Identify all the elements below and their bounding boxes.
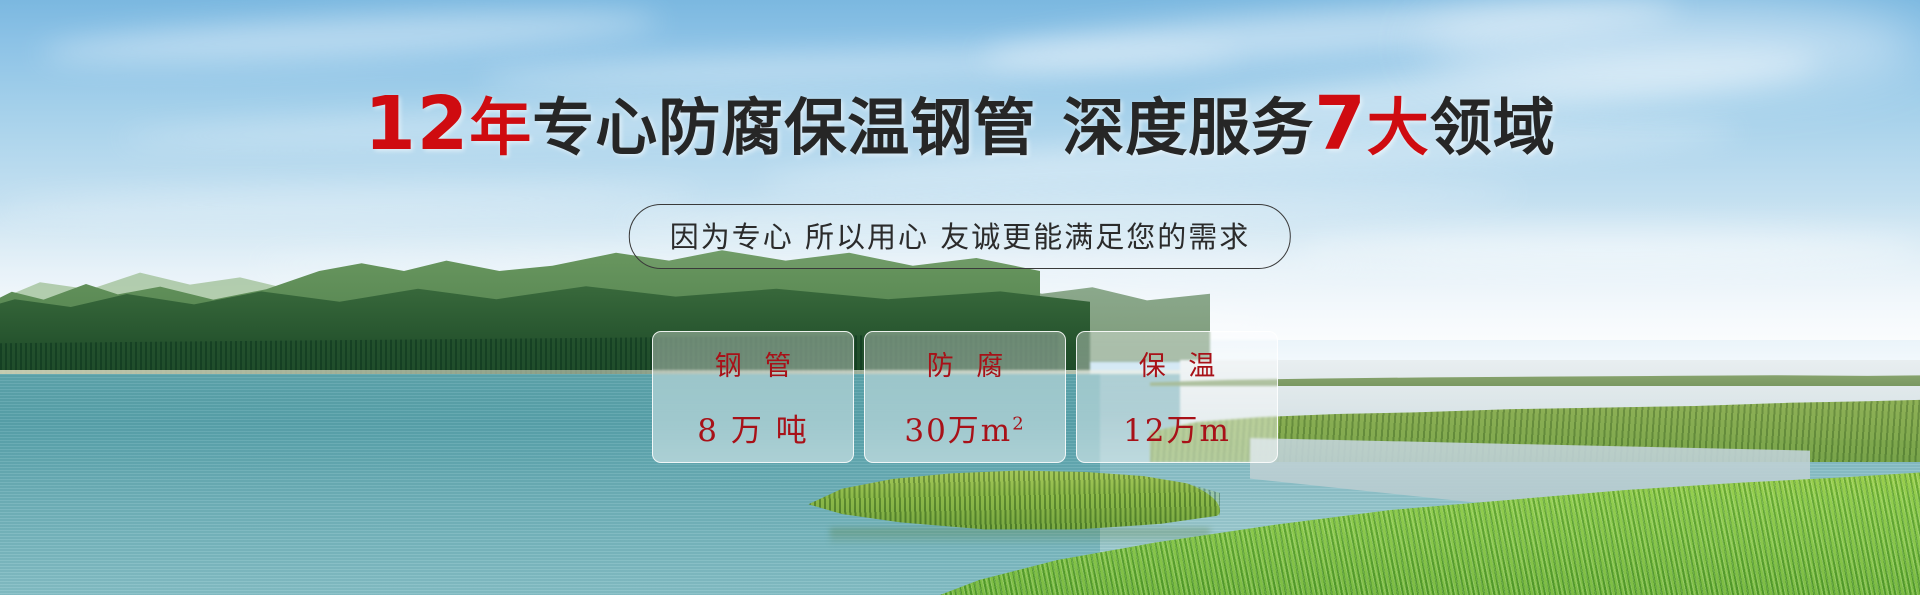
headline: 12年专心防腐保温钢管深度服务7大领域 [0, 86, 1920, 164]
stat-card-value: 8 万 吨 [697, 405, 808, 450]
stat-card-value-superscript: 2 [1012, 414, 1025, 435]
hero-banner: 12年专心防腐保温钢管深度服务7大领域 因为专心 所以用心 友诚更能满足您的需求… [0, 0, 1920, 595]
stat-card-value: 12万m [1123, 405, 1231, 450]
headline-highlight-unit: 大 [1367, 91, 1430, 164]
stat-card-steel-pipe[interactable]: 钢 管 8 万 吨 [652, 331, 854, 463]
stat-card-title: 防 腐 [920, 344, 1011, 383]
headline-part2: 深度服务 [1062, 91, 1314, 164]
stat-card-value-text: 8 万 吨 [697, 413, 808, 449]
stat-card-anticorrosion[interactable]: 防 腐 30万m2 [864, 331, 1066, 463]
stat-card-title: 保 温 [1132, 344, 1223, 383]
headline-years-number: 12 [364, 81, 469, 167]
headline-part1: 专心防腐保温钢管 [532, 91, 1036, 164]
stat-card-group: 钢 管 8 万 吨 防 腐 30万m2 保 温 12万m [652, 331, 1278, 463]
stat-card-value-text: 30万m [904, 413, 1012, 449]
subtitle-pill: 因为专心 所以用心 友诚更能满足您的需求 [629, 204, 1291, 269]
stat-card-title: 钢 管 [708, 344, 799, 383]
stat-card-value-text: 12万m [1123, 413, 1231, 449]
stat-card-value: 30万m2 [904, 405, 1025, 450]
headline-years-unit: 年 [469, 91, 532, 164]
headline-part3: 领域 [1430, 91, 1556, 164]
headline-highlight-number: 7 [1314, 81, 1367, 167]
stat-card-insulation[interactable]: 保 温 12万m [1076, 331, 1278, 463]
cloud-wisp-icon [1420, 0, 1920, 90]
